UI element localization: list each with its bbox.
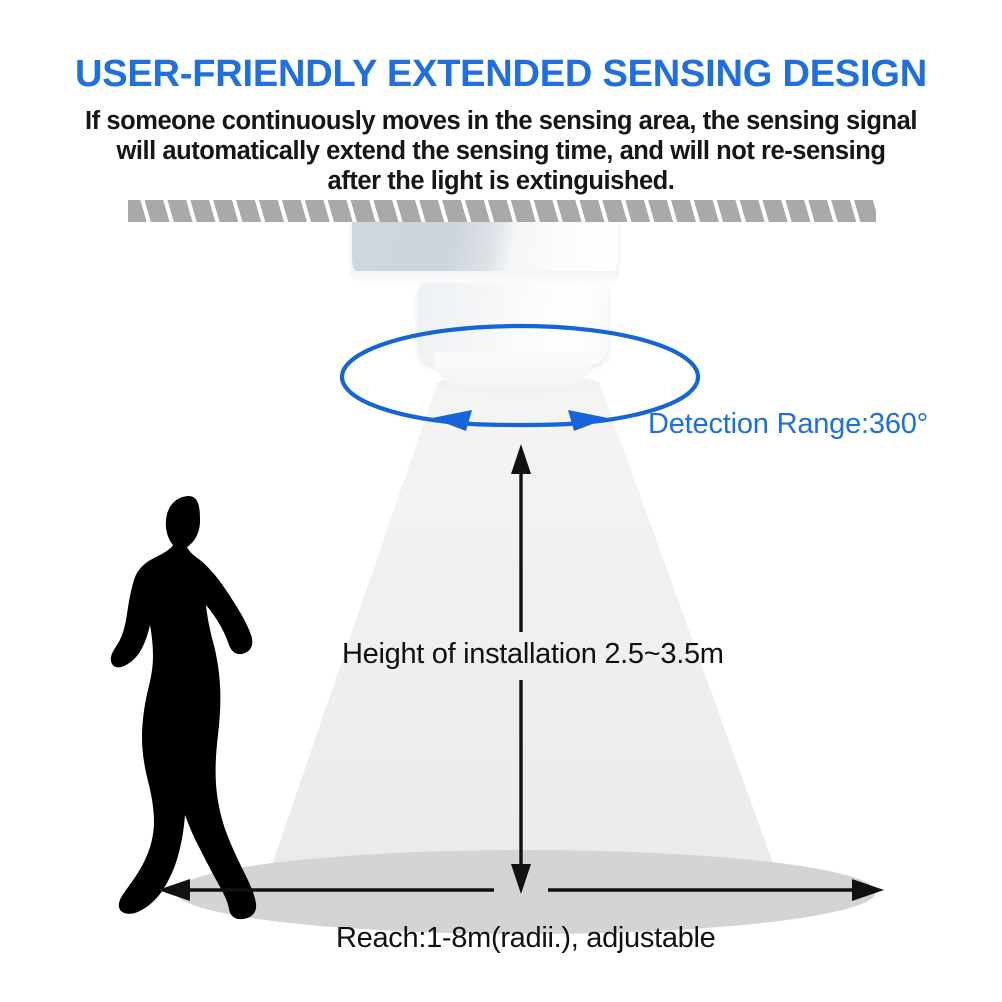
reach-arrow-right-icon [852,879,884,901]
product-infographic: USER-FRIENDLY EXTENDED SENSING DESIGN If… [0,0,1002,1002]
height-arrow-up-icon [511,444,531,474]
height-of-installation-label: Height of installation 2.5~3.5m [336,636,730,673]
reach-arrow-left-icon [158,879,190,901]
dimension-arrows [0,0,1002,1002]
reach-label: Reach:1-8m(radii.), adjustable [336,922,715,955]
height-arrow-down-icon [511,864,531,894]
detection-range-label: Detection Range:360° [648,408,928,441]
